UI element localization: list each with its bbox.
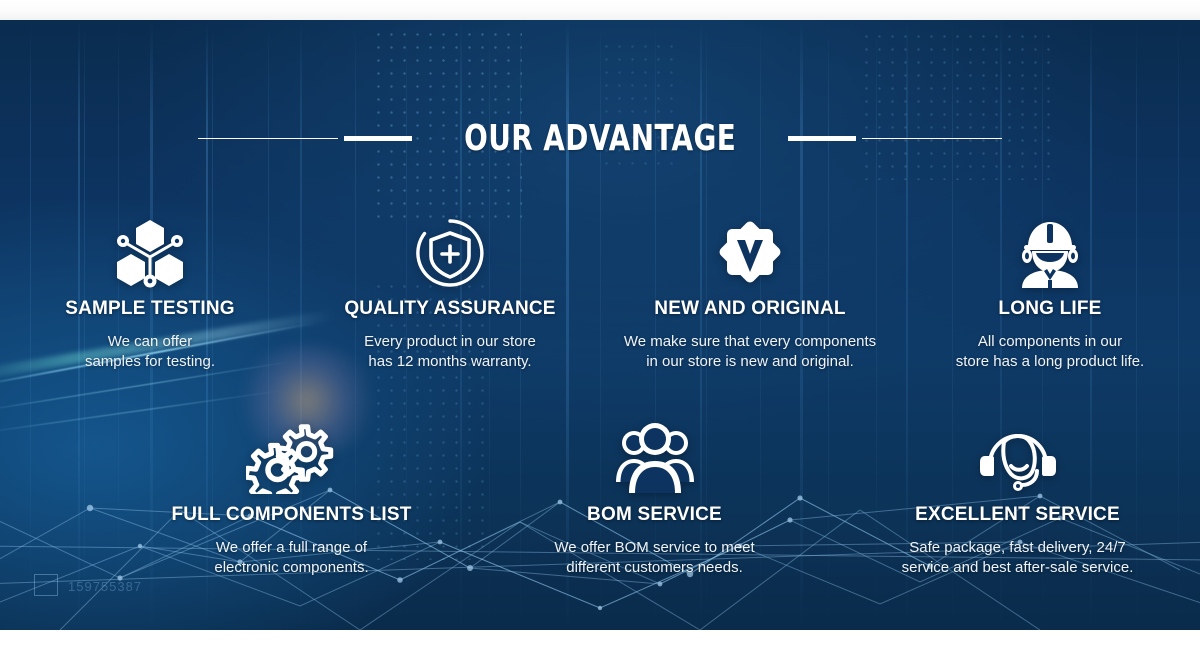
top-white-strip bbox=[0, 0, 1200, 20]
advantage-title: NEW AND ORIGINAL bbox=[654, 298, 845, 320]
engineer-hardhat-icon bbox=[1018, 216, 1082, 288]
headset-support-icon bbox=[980, 422, 1056, 494]
desc-line: has 12 months warranty. bbox=[364, 352, 536, 372]
advantage-desc: We offer a full range of electronic comp… bbox=[214, 538, 368, 578]
advantage-desc: We can offer samples for testing. bbox=[85, 332, 215, 372]
advantage-title: SAMPLE TESTING bbox=[65, 298, 235, 320]
advantage-desc: We make sure that every components in ou… bbox=[624, 332, 876, 372]
advantage-desc: Safe package, fast delivery, 24/7 servic… bbox=[902, 538, 1134, 578]
advantage-title: LONG LIFE bbox=[998, 298, 1101, 320]
banner-heading: OUR ADVANTAGE bbox=[0, 114, 1200, 162]
bottom-white-strip bbox=[0, 630, 1200, 659]
advantage-row-bottom: FULL COMPONENTS LIST We offer a full ran… bbox=[110, 422, 1200, 578]
desc-line: We offer a full range of bbox=[214, 538, 368, 558]
rule-thin-left bbox=[198, 138, 338, 139]
advantage-title: BOM SERVICE bbox=[587, 504, 722, 526]
rule-thin-right bbox=[862, 138, 1002, 139]
desc-line: store has a long product life. bbox=[956, 352, 1144, 372]
heading-rule-right bbox=[788, 136, 1002, 141]
rule-thick-right bbox=[788, 136, 856, 141]
decor-rectangle bbox=[34, 574, 58, 596]
people-group-icon bbox=[615, 422, 695, 494]
rule-thick-left bbox=[344, 136, 412, 141]
heading-rule-left bbox=[198, 136, 412, 141]
advantage-desc: Every product in our store has 12 months… bbox=[364, 332, 536, 372]
gears-icon bbox=[246, 422, 338, 494]
banner-background: 159755387 OUR ADVANTAGE bbox=[0, 20, 1200, 630]
advantage-row-top: SAMPLE TESTING We can offer samples for … bbox=[0, 216, 1200, 372]
desc-line: Safe package, fast delivery, 24/7 bbox=[902, 538, 1134, 558]
desc-line: different customers needs. bbox=[554, 558, 754, 578]
desc-line: service and best after-sale service. bbox=[902, 558, 1134, 578]
decor-number: 159755387 bbox=[68, 579, 142, 594]
molecule-hexagons-icon bbox=[114, 216, 186, 288]
advantage-item-long-life: LONG LIFE All components in our store ha… bbox=[900, 216, 1200, 372]
advantage-title: FULL COMPONENTS LIST bbox=[171, 504, 411, 526]
advantage-title: EXCELLENT SERVICE bbox=[915, 504, 1120, 526]
desc-line: We make sure that every components bbox=[624, 332, 876, 352]
advantage-item-bom-service: BOM SERVICE We offer BOM service to meet… bbox=[473, 422, 836, 578]
desc-line: electronic components. bbox=[214, 558, 368, 578]
advantage-title: QUALITY ASSURANCE bbox=[344, 298, 555, 320]
shield-plus-circle-icon bbox=[415, 216, 485, 288]
advantage-banner: 159755387 OUR ADVANTAGE bbox=[0, 0, 1200, 659]
advantage-desc: All components in our store has a long p… bbox=[956, 332, 1144, 372]
verified-badge-v-icon bbox=[716, 216, 784, 288]
desc-line: We offer BOM service to meet bbox=[554, 538, 754, 558]
desc-line: Every product in our store bbox=[364, 332, 536, 352]
advantage-desc: We offer BOM service to meet different c… bbox=[554, 538, 754, 578]
advantage-item-full-components-list: FULL COMPONENTS LIST We offer a full ran… bbox=[110, 422, 473, 578]
page-title: OUR ADVANTAGE bbox=[438, 118, 762, 159]
advantage-item-new-and-original: NEW AND ORIGINAL We make sure that every… bbox=[600, 216, 900, 372]
advantage-item-quality-assurance: QUALITY ASSURANCE Every product in our s… bbox=[300, 216, 600, 372]
advantage-item-excellent-service: EXCELLENT SERVICE Safe package, fast del… bbox=[836, 422, 1199, 578]
desc-line: in our store is new and original. bbox=[624, 352, 876, 372]
desc-line: All components in our bbox=[956, 332, 1144, 352]
desc-line: samples for testing. bbox=[85, 352, 215, 372]
desc-line: We can offer bbox=[85, 332, 215, 352]
advantage-item-sample-testing: SAMPLE TESTING We can offer samples for … bbox=[0, 216, 300, 372]
